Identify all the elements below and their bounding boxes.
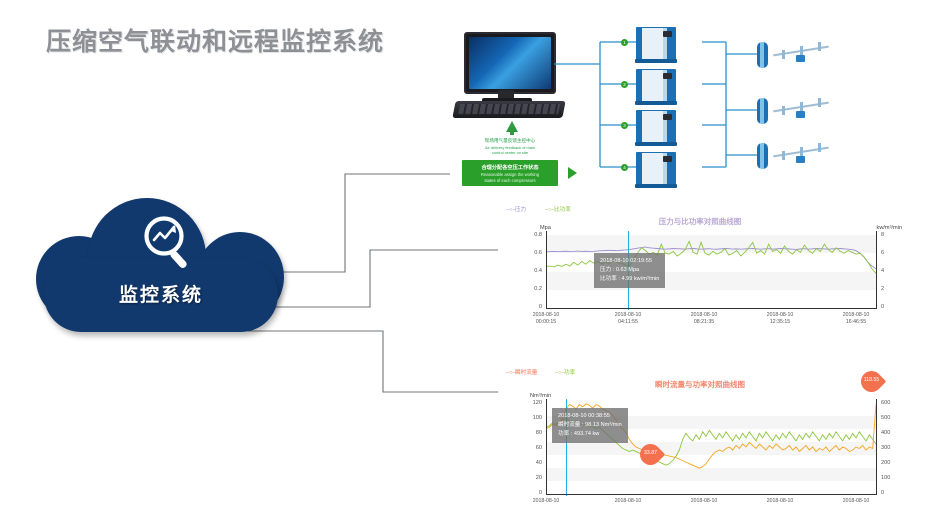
magnifier-chart-icon [140,214,200,272]
monitoring-cloud: 监控系统 [36,196,286,336]
chart1-y-axis-right [876,231,877,308]
chart1-xtick-3: 2018-08-10 12:35:15 [750,312,810,326]
air-tank-3 [757,143,768,169]
legend-marker-power: –○– [555,370,564,376]
xtick-date: 2018-08-10 [533,312,560,318]
legend-item-specific-power[interactable]: –○–比功率 [545,205,571,213]
air-tank-1 [757,42,768,68]
chart2-tooltip-timestamp: 2018-08-10 00:38:55 [558,412,622,421]
chart2-ytick-right-2: 400 [881,430,897,436]
legend-label-flow: 瞬时流量 [515,370,537,376]
chart2-ytick-left-0: 120 [522,400,542,406]
xtick-time: 00:00:15 [536,319,556,325]
chart1-xtick-1: 2018-08-10 04:11:55 [598,312,658,326]
chart1-ytick-right-4: 0 [881,304,895,310]
system-diagram: 现场用气量反馈主控中心 Air delivery feedback of mai… [440,22,940,202]
xtick-date: 2018-08-10 [843,312,870,318]
compressor-1 [636,27,676,60]
compressor-panel [663,31,672,37]
chart2-ytick-right-5: 100 [881,475,897,481]
chart1-xtick-4: 2018-08-10 16:46:55 [826,312,886,326]
chart2-ytick-left-1: 100 [522,415,542,421]
legend-marker-pressure: –○– [506,207,515,213]
chart2-ytick-right-1: 500 [881,415,897,421]
drop-line-2c [818,98,821,107]
xtick-time: 04:11:55 [618,319,638,325]
xtick-time: 08:21:35 [694,319,714,325]
drop-line-3c [818,143,821,152]
chart2-xtick-1: 2018-08-10 [598,498,658,505]
chart1-tooltip-line2: 比功率 : 4.99 kw/m³/min [600,275,659,284]
compressor-panel [663,114,672,120]
legend-label-specific-power: 比功率 [554,207,571,213]
compressor-foot [635,101,677,105]
chart2-ytick-left-4: 40 [522,460,542,466]
xtick-time: 12:35:15 [770,319,790,325]
chart1-xtick-2: 2018-08-10 08:21:35 [674,312,734,326]
chart2-min-marker[interactable]: 33.87 [640,444,661,471]
chart1-tooltip: 2018-08-10 02:19:55 压力 : 0.63 Mpa 比功率 : … [594,253,665,288]
chart1-title: 压力与比功率对照曲线图 [498,216,902,227]
chart1-ytick-left-2: 0.4 [522,268,542,274]
chart-flow-vs-power: –○–瞬时流量 –○–功率 瞬时流量与功率对照曲线图 Nm³/min 120 1… [498,366,902,516]
chart2-title: 瞬时流量与功率对照曲线图 [498,379,902,390]
chart1-ytick-left-3: 0.2 [522,286,542,292]
compressor-foot [635,184,677,188]
air-tank-2 [757,98,768,124]
drop-line-1b [800,46,803,55]
node-badge-1: 1 [621,39,628,46]
chart2-ytick-left-3: 60 [522,445,542,451]
air-tool-2 [796,111,805,118]
chart1-ytick-left-0: 0.8 [522,232,542,238]
chart2-tooltip-line2: 功率 : 493.74 kw [558,430,622,439]
chart2-y-axis [546,399,547,494]
legend-item-pressure[interactable]: –○–压力 [506,205,526,213]
chart1-xtick-0: 2018-08-10 00:00:15 [516,312,576,326]
chart1-ylabel-right: kw/m³/min [877,225,902,231]
chart2-max-marker[interactable]: 118.55 [861,371,882,398]
xtick-date: 2018-08-10 [691,312,718,318]
chart2-ytick-right-3: 300 [881,445,897,451]
chart1-ytick-left-4: 0 [522,304,542,310]
chart1-ytick-right-2: 4 [881,268,895,274]
cloud-label: 监控系统 [36,280,286,307]
chart1-x-axis [546,308,877,309]
compressor-3 [636,110,676,143]
xtick-date: 2018-08-10 [767,312,794,318]
chart2-tooltip-line1: 瞬时流量 : 98.13 Nm³/min [558,421,622,430]
drop-line-3a [782,151,785,160]
air-tool-1 [796,55,805,62]
compressor-panel [663,156,672,162]
node-badge-3: 3 [621,122,628,129]
chart1-ytick-right-3: 2 [881,286,895,292]
chart2-ytick-right-4: 200 [881,460,897,466]
air-tool-3 [796,156,805,163]
chart2-ytick-left-6: 0 [522,490,542,496]
pipe-network [440,22,940,202]
legend-item-power[interactable]: –○–功率 [555,368,575,376]
chart2-x-axis [546,494,877,495]
chart1-tooltip-line1: 压力 : 0.63 Mpa [600,266,659,275]
chart2-ytick-left-2: 80 [522,430,542,436]
legend-item-flow[interactable]: –○–瞬时流量 [506,368,537,376]
compressor-foot [635,142,677,146]
node-badge-2: 2 [621,81,628,88]
chart1-tooltip-timestamp: 2018-08-10 02:19:55 [600,257,659,266]
connector-to-chart-flow [248,331,500,392]
drop-line-1c [818,42,821,51]
compressor-panel [663,73,672,79]
compressor-2 [636,69,676,102]
drop-line-3b [800,147,803,156]
compressor-4 [636,152,676,185]
page-title: 压缩空气联动和远程监控系统 [46,22,384,58]
min-marker-label: 33.87 [640,450,661,456]
drop-line-2b [800,102,803,111]
legend-label-pressure: 压力 [515,207,526,213]
chart2-tooltip: 2018-08-10 00:38:55 瞬时流量 : 98.13 Nm³/min… [552,408,628,443]
legend-marker-specific-power: –○– [545,207,554,213]
compressor-foot [635,59,677,63]
chart2-ytick-left-5: 20 [522,475,542,481]
chart2-ytick-right-0: 600 [881,400,897,406]
max-marker-label: 118.55 [861,377,882,383]
chart2-ytick-right-6: 0 [881,490,897,496]
chart1-ytick-right-1: 6 [881,250,895,256]
chart1-ytick-left-1: 0.6 [522,250,542,256]
chart2-y-axis-right [876,399,877,494]
connector-to-chart-pressure [262,250,500,307]
chart2-ylabel-left: Nm³/min [530,393,551,399]
chart2-xtick-3: 2018-08-10 [750,498,810,505]
chart1-y-axis [546,231,547,308]
chart2-xtick-0: 2018-08-10 [516,498,576,505]
node-badge-4: 4 [621,164,628,171]
drop-line-2a [782,106,785,115]
chart2-xtick-2: 2018-08-10 [674,498,734,505]
legend-marker-flow: –○– [506,370,515,376]
chart2-xtick-4: 2018-08-10 [826,498,886,505]
chart1-ytick-right-0: 8 [881,232,895,238]
chart-pressure-vs-specific-power: –○–压力 –○–比功率 压力与比功率对照曲线图 Mpa kw/m³/min 0… [498,203,902,331]
legend-label-power: 功率 [564,370,575,376]
xtick-time: 16:46:55 [846,319,866,325]
xtick-date: 2018-08-10 [615,312,642,318]
drop-line-1a [782,50,785,59]
